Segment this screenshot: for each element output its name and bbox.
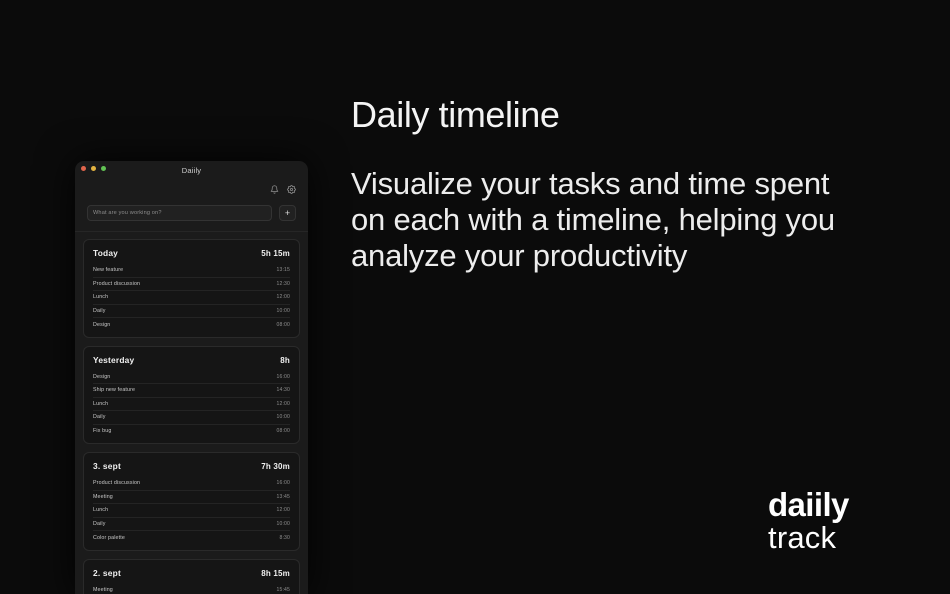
task-time: 13:15 [277,267,291,273]
task-name: Design [93,322,110,328]
day-card: 3. sept 7h 30m Product discussion 16:00 … [83,452,300,551]
day-total: 5h 15m [261,249,290,258]
page-root: Daiily + Toda [0,0,950,594]
task-row[interactable]: Daily 10:00 [93,518,290,532]
task-name: Daily [93,414,106,420]
task-name: Meeting [93,494,113,500]
task-time: 15:45 [277,587,291,593]
task-time: 12:30 [277,281,291,287]
logo-secondary-text: track [768,522,849,555]
minimize-window-button[interactable] [91,166,96,171]
task-name: Lunch [93,294,108,300]
day-title: 2. sept [93,568,121,578]
task-time: 16:00 [277,480,291,486]
task-time: 12:00 [277,507,291,513]
task-time: 10:00 [277,521,291,527]
task-row[interactable]: Lunch 12:00 [93,291,290,305]
task-name: Color palette [93,535,125,541]
task-row[interactable]: Meeting 15:45 [93,584,290,594]
task-row[interactable]: Lunch 12:00 [93,504,290,518]
task-name: Lunch [93,401,108,407]
gear-icon[interactable] [287,185,296,194]
app-toolbar [75,179,308,199]
day-total: 7h 30m [261,462,290,471]
body-copy: Visualize your tasks and time spent on e… [351,166,851,274]
day-title: 3. sept [93,461,121,471]
day-total: 8h [280,356,290,365]
window-titlebar: Daiily [75,161,308,179]
traffic-lights [81,166,106,171]
close-window-button[interactable] [81,166,86,171]
task-row[interactable]: New feature 13:15 [93,264,290,278]
day-total: 8h 15m [261,569,290,578]
task-time: 12:00 [277,294,291,300]
day-card: 2. sept 8h 15m Meeting 15:45 Bugfix 13:2… [83,559,300,594]
day-card: Yesterday 8h Design 16:00 Ship new featu… [83,346,300,445]
task-input[interactable] [87,205,272,221]
day-header: 2. sept 8h 15m [93,568,290,578]
task-name: Product discussion [93,480,140,486]
task-row[interactable]: Design 08:00 [93,318,290,332]
task-row[interactable]: Meeting 13:45 [93,491,290,505]
task-row[interactable]: Daily 10:00 [93,305,290,319]
marketing-copy: Daily timeline Visualize your tasks and … [351,97,851,274]
task-name: Product discussion [93,281,140,287]
task-name: Daily [93,308,106,314]
app-window: Daiily + Toda [75,161,308,594]
task-entry-row: + [75,199,308,232]
task-row[interactable]: Lunch 12:00 [93,398,290,412]
timeline-list[interactable]: Today 5h 15m New feature 13:15 Product d… [75,232,308,594]
task-name: Design [93,374,110,380]
task-name: New feature [93,267,123,273]
task-row[interactable]: Ship new feature 14:30 [93,384,290,398]
day-header: 3. sept 7h 30m [93,461,290,471]
task-name: Daily [93,521,106,527]
task-name: Lunch [93,507,108,513]
task-name: Meeting [93,587,113,593]
logo-primary-text: daiily [768,488,849,521]
add-task-button[interactable]: + [279,205,296,221]
task-row[interactable]: Daily 10:00 [93,411,290,425]
task-row[interactable]: Color palette 8:30 [93,531,290,545]
task-row[interactable]: Product discussion 16:00 [93,477,290,491]
day-header: Today 5h 15m [93,248,290,258]
task-time: 10:00 [277,308,291,314]
task-time: 14:30 [277,387,291,393]
task-time: 10:00 [277,414,291,420]
headline: Daily timeline [351,97,851,133]
task-time: 8:30 [279,535,290,541]
window-title: Daiily [182,166,202,175]
task-name: Ship new feature [93,387,135,393]
task-time: 13:45 [277,494,291,500]
day-title: Today [93,248,118,258]
task-row[interactable]: Fix bug 08:00 [93,425,290,439]
task-time: 16:00 [277,374,291,380]
day-title: Yesterday [93,355,134,365]
task-row[interactable]: Product discussion 12:30 [93,278,290,292]
task-row[interactable]: Design 16:00 [93,371,290,385]
task-time: 12:00 [277,401,291,407]
brand-logo: daiily track [768,488,849,555]
maximize-window-button[interactable] [101,166,106,171]
day-card: Today 5h 15m New feature 13:15 Product d… [83,239,300,338]
task-time: 08:00 [277,322,291,328]
task-time: 08:00 [277,428,291,434]
day-header: Yesterday 8h [93,355,290,365]
bell-icon[interactable] [270,185,279,194]
task-name: Fix bug [93,428,111,434]
